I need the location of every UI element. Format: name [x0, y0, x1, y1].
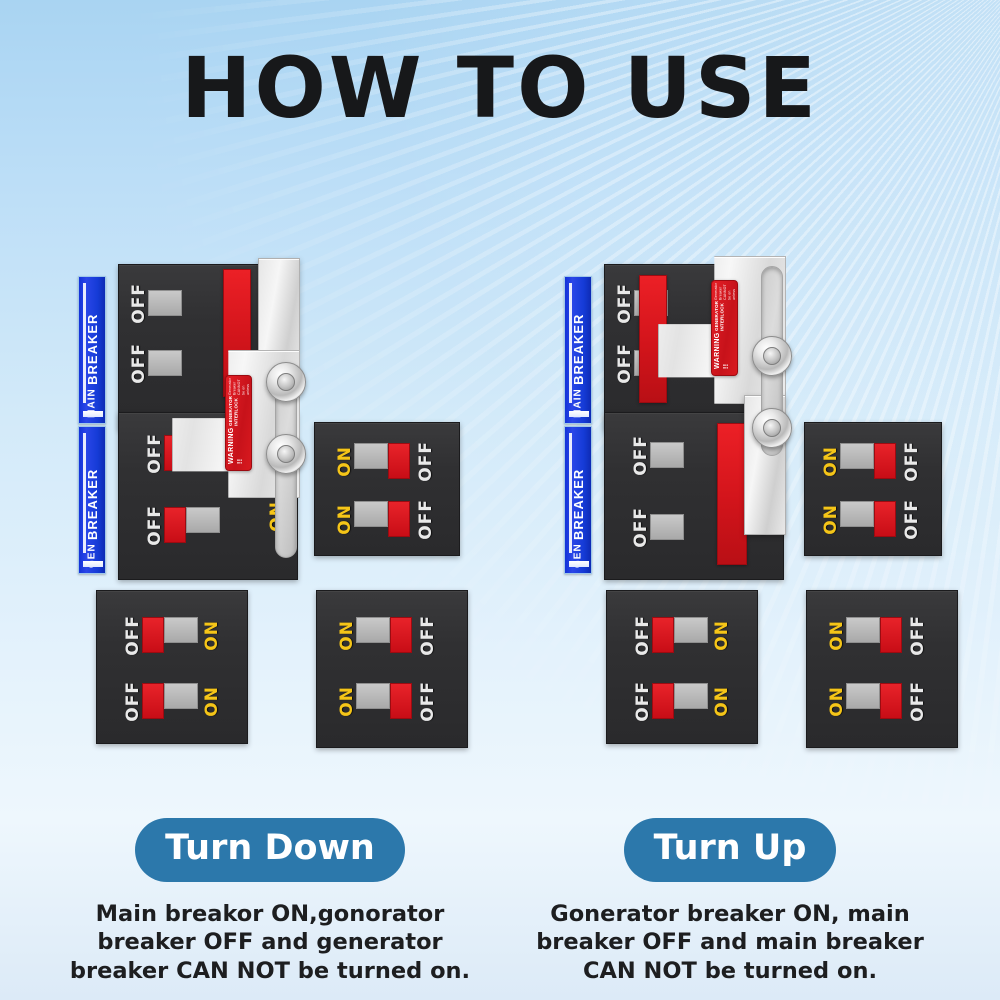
pole-label-off: OFF	[420, 681, 437, 722]
tile-right-bottom[interactable]: ON OFF ON OFF	[806, 590, 958, 748]
tile-pole-2[interactable]: ON OFF	[829, 681, 927, 722]
pole-label-off: OFF	[131, 343, 148, 384]
main-breaker-label-line2: BREAKER	[86, 314, 99, 385]
pole-label-off: OFF	[910, 615, 927, 656]
pole-switch[interactable]	[652, 683, 708, 719]
main-breaker-label-line2: BREAKER	[572, 314, 585, 385]
tile-right-bottom[interactable]: ON OFF ON OFF	[316, 590, 468, 748]
interlock-screw-bottom[interactable]	[266, 434, 306, 474]
tile-pole-1[interactable]: ON OFF	[823, 441, 921, 482]
pole-label-off: OFF	[125, 681, 142, 722]
switch-body	[840, 501, 874, 527]
pole-switch[interactable]	[354, 443, 410, 479]
tile-pole-1[interactable]: ON OFF	[337, 441, 435, 482]
tile-pole-1[interactable]: ON OFF	[339, 615, 437, 656]
tile-pole-1[interactable]: OFF ON	[635, 615, 731, 656]
pole-switch[interactable]	[652, 617, 708, 653]
pole-label-on: ON	[829, 620, 846, 651]
pole-switch[interactable]	[846, 617, 902, 653]
switch-body	[356, 617, 390, 643]
pole-switch[interactable]	[650, 514, 684, 540]
pole-label-on: ON	[337, 504, 354, 535]
pole-label-off: OFF	[418, 441, 435, 482]
pole-label-off: OFF	[635, 615, 652, 656]
switch-flag	[388, 501, 410, 537]
switch-flag	[874, 443, 896, 479]
pole-label-off: OFF	[420, 615, 437, 656]
pole-label-on: ON	[339, 620, 356, 651]
tile-left-bottom[interactable]: OFF ON OFF ON	[606, 590, 758, 744]
switch-body	[186, 507, 220, 533]
pole-label-off: OFF	[635, 681, 652, 722]
label-bottom-bar	[569, 561, 589, 567]
warning-line-3: Generator Breaker CANNOT be on unless Ma…	[714, 281, 738, 300]
pole-switch[interactable]	[142, 617, 198, 653]
switch-body	[164, 617, 198, 643]
interlock-screw-bottom[interactable]	[752, 408, 792, 448]
pole-switch[interactable]	[840, 443, 896, 479]
gen-breaker-pole-2[interactable]: OFF	[147, 505, 220, 546]
pole-label-off: OFF	[418, 499, 435, 540]
pole-label-on: ON	[823, 446, 840, 477]
switch-body	[846, 617, 880, 643]
switch-body	[674, 617, 708, 643]
pole-label-off: OFF	[633, 507, 650, 548]
interlock-screw-top[interactable]	[752, 336, 792, 376]
turn-down-description: Main breakor ON,gonorator breaker OFF an…	[60, 900, 480, 985]
interlock-screw-top[interactable]	[266, 362, 306, 402]
switch-body	[354, 501, 388, 527]
warning-line-3: Generator Breaker CANNOT be on unless Ma…	[228, 376, 252, 395]
pole-switch[interactable]	[840, 501, 896, 537]
gen-breaker-label-strip: GEN BREAKER	[78, 426, 106, 574]
tile-pole-2[interactable]: OFF ON	[635, 681, 731, 722]
pole-label-on: ON	[714, 686, 731, 717]
tile-left-bottom[interactable]: OFF ON OFF ON	[96, 590, 248, 744]
gen-breaker-pole-1[interactable]: OFF	[633, 435, 684, 476]
pole-switch[interactable]	[148, 350, 182, 376]
switch-body	[354, 443, 388, 469]
switch-flag	[652, 683, 674, 719]
pole-label-on: ON	[339, 686, 356, 717]
caption-turn-down: Turn Down Main breakor ON,gonorator brea…	[60, 818, 480, 985]
label-bottom-bar	[83, 561, 103, 567]
tile-right-top[interactable]: ON OFF ON OFF	[804, 422, 942, 556]
tile-pole-2[interactable]: OFF ON	[125, 681, 221, 722]
switch-body	[164, 683, 198, 709]
warning-line-1: WARNING !!	[714, 332, 732, 369]
gen-breaker-label-line2: BREAKER	[572, 469, 585, 540]
pole-label-off: OFF	[617, 283, 634, 324]
warning-sticker: WARNING !! GENERATOR INTERLOCK Generator…	[225, 375, 252, 471]
main-breaker-label-strip: MAIN BREAKER	[564, 276, 592, 424]
pole-switch[interactable]	[650, 442, 684, 468]
pole-label-on: ON	[714, 620, 731, 651]
warning-line-2: GENERATOR INTERLOCK	[228, 396, 239, 426]
pole-label-off: OFF	[910, 681, 927, 722]
switch-flag	[142, 617, 164, 653]
pole-switch[interactable]	[846, 683, 902, 719]
main-breaker-pole-2[interactable]: OFF	[131, 343, 182, 384]
pole-switch[interactable]	[142, 683, 198, 719]
switch-body	[840, 443, 874, 469]
pole-label-off: OFF	[147, 505, 164, 546]
switch-body	[846, 683, 880, 709]
pole-label-off: OFF	[633, 435, 650, 476]
panel-turn-up: MAIN BREAKER GEN BREAKER OFF OFF	[548, 250, 988, 770]
gen-breaker-pole-2[interactable]: OFF	[633, 507, 684, 548]
tile-pole-2[interactable]: ON OFF	[337, 499, 435, 540]
tile-pole-1[interactable]: OFF ON	[125, 615, 221, 656]
turn-up-description: Gonerator breaker ON, main breaker OFF a…	[520, 900, 940, 985]
switch-body	[148, 290, 182, 316]
pole-label-off: OFF	[131, 283, 148, 324]
turn-up-pill[interactable]: Turn Up	[624, 818, 837, 882]
pole-switch[interactable]	[148, 290, 182, 316]
switch-flag	[652, 617, 674, 653]
pole-label-on: ON	[204, 686, 221, 717]
pole-label-off: OFF	[904, 441, 921, 482]
pole-label-off: OFF	[904, 499, 921, 540]
pole-switch[interactable]	[356, 617, 412, 653]
switch-flag	[390, 617, 412, 653]
warning-sticker: WARNING !! GENERATOR INTERLOCK Generator…	[711, 280, 738, 376]
tile-pole-2[interactable]: ON OFF	[823, 499, 921, 540]
switch-body	[356, 683, 390, 709]
tile-pole-1[interactable]: ON OFF	[829, 615, 927, 656]
main-breaker-label-strip: MAIN BREAKER	[78, 276, 106, 424]
panel-turn-down: MAIN BREAKER GEN BREAKER OFF OFF	[62, 250, 502, 770]
gen-breaker-label-strip: GEN BREAKER	[564, 426, 592, 574]
pole-label-on: ON	[829, 686, 846, 717]
tile-pole-2[interactable]: ON OFF	[339, 681, 437, 722]
gen-breaker-red-indicator	[717, 423, 747, 565]
switch-flag	[880, 617, 902, 653]
pole-switch[interactable]	[356, 683, 412, 719]
pole-switch[interactable]	[164, 507, 220, 543]
pole-label-off: OFF	[147, 433, 164, 474]
switch-flag	[874, 501, 896, 537]
turn-down-pill[interactable]: Turn Down	[135, 818, 405, 882]
tile-right-top[interactable]: ON OFF ON OFF	[314, 422, 460, 556]
switch-flag	[388, 443, 410, 479]
pole-label-on: ON	[823, 504, 840, 535]
switch-body	[148, 350, 182, 376]
pole-label-on: ON	[337, 446, 354, 477]
pole-label-off: OFF	[125, 615, 142, 656]
pole-switch[interactable]	[354, 501, 410, 537]
switch-body	[650, 442, 684, 468]
label-bottom-bar	[569, 411, 589, 417]
label-bottom-bar	[83, 411, 103, 417]
warning-line-2: GENERATOR INTERLOCK	[714, 301, 725, 331]
gen-breaker-label-line2: BREAKER	[86, 469, 99, 540]
switch-flag	[164, 507, 186, 543]
main-breaker-pole-1[interactable]: OFF	[131, 283, 182, 324]
switch-flag	[880, 683, 902, 719]
switch-flag	[142, 683, 164, 719]
switch-body	[674, 683, 708, 709]
switch-body	[650, 514, 684, 540]
pole-label-off: OFF	[617, 343, 634, 384]
caption-turn-up: Turn Up Gonerator breaker ON, main break…	[520, 818, 940, 985]
switch-flag	[390, 683, 412, 719]
pole-label-on: ON	[204, 620, 221, 651]
warning-line-1: WARNING !!	[228, 427, 246, 464]
